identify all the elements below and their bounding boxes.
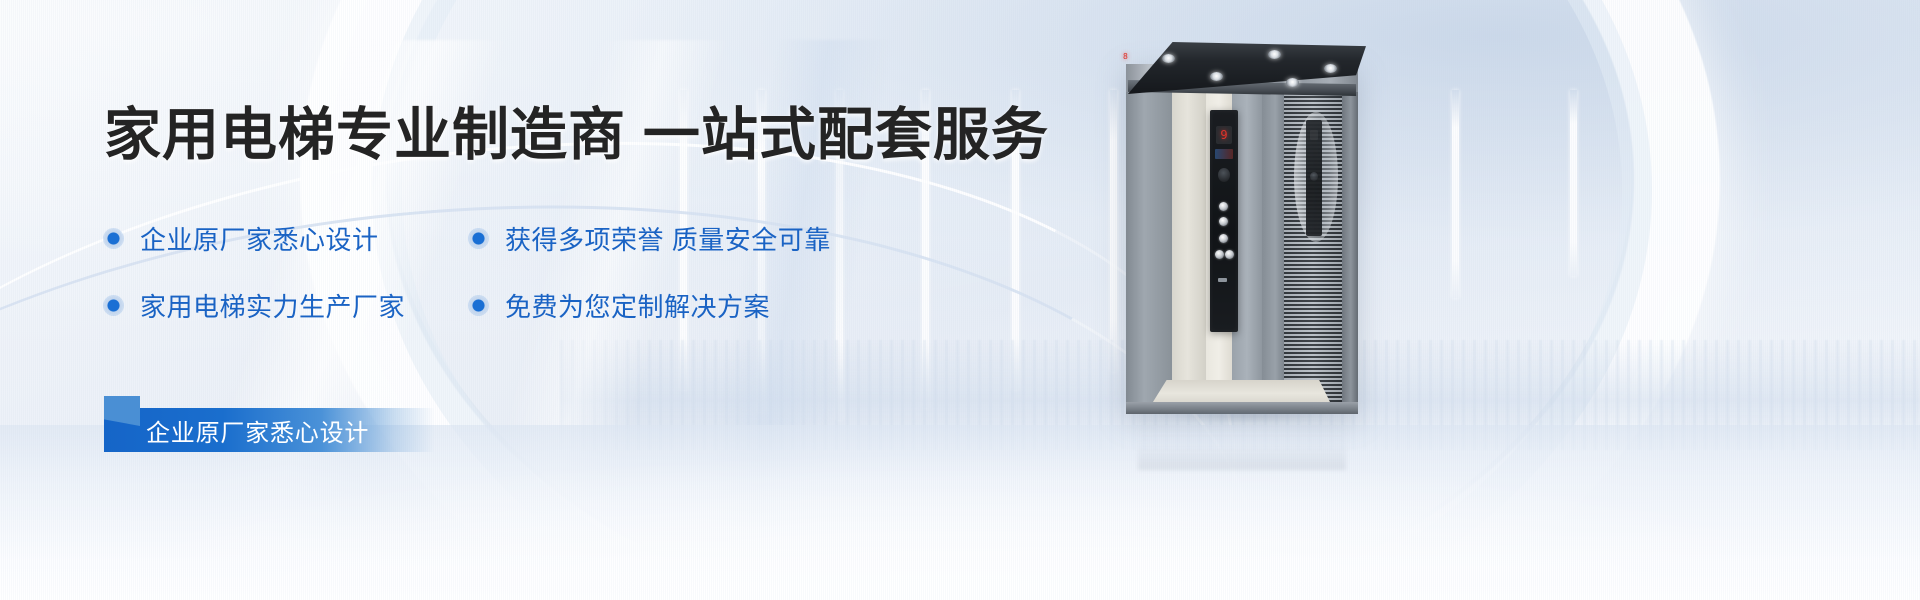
door-open-button [1215, 250, 1224, 259]
floor-button [1219, 202, 1228, 211]
ceiling-spotlight-icon [1286, 78, 1299, 87]
floor-button [1219, 234, 1228, 243]
ribbon-label: 企业原厂家悉心设计 [146, 413, 369, 448]
selling-point-list: 企业原厂家悉心设计 获得多项荣誉 质量安全可靠 家用电梯实力生产厂家 免费为您定… [104, 220, 1104, 324]
cabin-floor-reflection [1138, 418, 1346, 470]
cabin-wall-back-light [1172, 92, 1206, 412]
cabin-wall-right-edge [1342, 92, 1358, 412]
panel-brand-strip [1215, 149, 1233, 159]
banner-copy-block: 家用电梯专业制造商 一站式配套服务 企业原厂家悉心设计 获得多项荣誉 质量安全可… [104, 104, 1104, 324]
selling-point-item: 获得多项荣誉 质量安全可靠 [469, 220, 1104, 257]
selling-point-item: 家用电梯实力生产厂家 [104, 287, 469, 324]
selling-point-label: 企业原厂家悉心设计 [140, 220, 379, 257]
bullet-dot-icon [104, 296, 123, 315]
panel-key-slot [1218, 278, 1227, 282]
secondary-floor-digit: 8 [1123, 53, 1128, 61]
selling-point-item: 企业原厂家悉心设计 [104, 220, 469, 257]
ceiling-spotlight-icon [1268, 50, 1281, 59]
floor-button [1219, 217, 1228, 226]
elevator-cabin-product-image: 9 8 [1118, 42, 1366, 414]
selling-point-label: 获得多项荣誉 质量安全可靠 [505, 220, 831, 257]
bullet-dot-icon [469, 296, 488, 315]
secondary-control-panel [1306, 120, 1322, 236]
bullet-dot-icon [469, 229, 488, 248]
selling-point-label: 免费为您定制解决方案 [505, 287, 770, 324]
ceiling-spotlight-icon [1324, 64, 1337, 73]
floor-indicator-digit: 9 [1220, 129, 1227, 141]
floor-indicator-display: 9 [1216, 126, 1232, 144]
bullet-dot-icon [104, 229, 123, 248]
home-elevator-promo-banner: 9 8 家用电梯专业制造商 一站式配套服务 [0, 0, 1920, 600]
selling-point-item: 免费为您定制解决方案 [469, 287, 1104, 324]
cabin-wall-left [1126, 92, 1172, 412]
secondary-speaker-icon [1310, 172, 1318, 181]
ceiling-spotlight-icon [1162, 54, 1175, 63]
ribbon-body: 企业原厂家悉心设计 [104, 408, 434, 452]
highlight-ribbon: 企业原厂家悉心设计 [104, 408, 434, 452]
elevator-control-panel: 9 [1210, 110, 1238, 332]
secondary-floor-display [1310, 130, 1318, 140]
cabin-panel-c [1262, 92, 1284, 412]
panel-speaker-icon [1218, 168, 1230, 182]
banner-headline: 家用电梯专业制造商 一站式配套服务 [104, 104, 1104, 168]
selling-point-label: 家用电梯实力生产厂家 [140, 287, 405, 324]
door-close-button [1225, 250, 1234, 259]
ceiling-spotlight-icon [1210, 72, 1223, 81]
